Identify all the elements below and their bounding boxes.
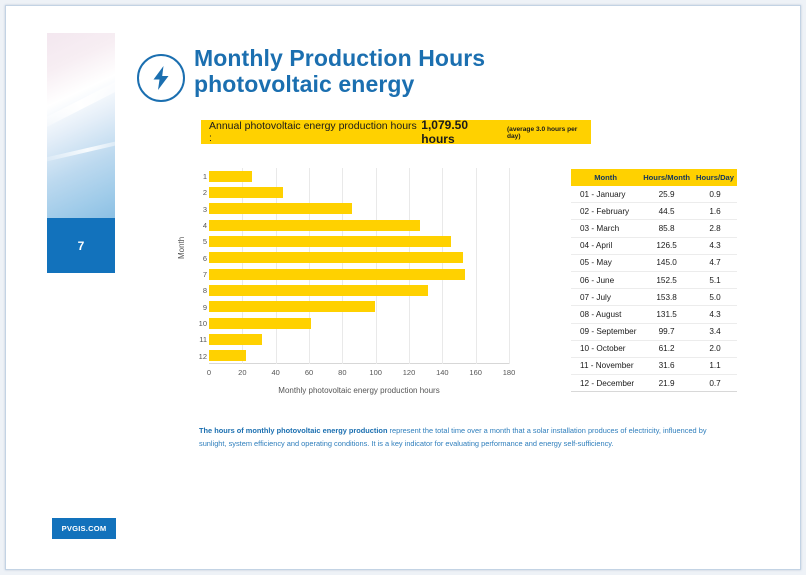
production-hours-bar-chart: Month 123456789101112 Monthly photovolta… xyxy=(181,164,526,399)
sidebar-decoration: 7 xyxy=(47,33,115,273)
chart-bar xyxy=(209,236,451,247)
chart-bar xyxy=(209,171,252,182)
chart-y-tick-label: 3 xyxy=(167,205,207,214)
chart-x-tick-label: 60 xyxy=(305,368,313,377)
pvgis-logo: PVGIS.COM xyxy=(52,518,116,539)
annual-summary-average: (average 3.0 hours per day) xyxy=(507,126,591,140)
table-cell-month: 09 - September xyxy=(571,323,640,340)
table-cell-hours-day: 0.9 xyxy=(693,186,737,203)
table-row: 07 - July153.85.0 xyxy=(571,289,737,306)
chart-x-axis-title: Monthly photovoltaic energy production h… xyxy=(209,386,509,395)
table-row: 01 - January25.90.9 xyxy=(571,186,737,203)
chart-plot-area: 123456789101112 xyxy=(209,168,509,364)
chart-y-tick-label: 9 xyxy=(167,303,207,312)
annual-summary-label: Annual photovoltaic energy production ho… xyxy=(209,120,418,144)
chart-gridline xyxy=(509,168,510,364)
table-cell-hours-month: 85.8 xyxy=(640,220,693,237)
chart-bar-row xyxy=(209,217,509,233)
table-cell-hours-month: 31.6 xyxy=(640,357,693,374)
table-cell-hours-month: 25.9 xyxy=(640,186,693,203)
table-cell-month: 05 - May xyxy=(571,254,640,271)
table-cell-month: 11 - November xyxy=(571,357,640,374)
sidebar-image xyxy=(47,33,115,218)
table-cell-hours-day: 3.4 xyxy=(693,323,737,340)
chart-y-tick-label: 10 xyxy=(167,319,207,328)
chart-bar-row xyxy=(209,184,509,200)
table-header-row: Month Hours/Month Hours/Day xyxy=(571,169,737,186)
page-title-line1: Monthly Production Hours xyxy=(194,45,485,71)
table-cell-hours-month: 44.5 xyxy=(640,203,693,220)
chart-bar-row xyxy=(209,331,509,347)
annual-summary-value: 1,079.50 hours xyxy=(421,118,503,146)
table-cell-hours-month: 21.9 xyxy=(640,375,693,392)
chart-bar xyxy=(209,187,283,198)
chart-x-tick-label: 40 xyxy=(271,368,279,377)
chart-x-tick-label: 140 xyxy=(436,368,449,377)
slide-page: 7 Monthly Production Hours photovoltaic … xyxy=(5,5,801,570)
table-cell-hours-day: 4.3 xyxy=(693,237,737,254)
chart-bar-row xyxy=(209,168,509,184)
chart-bar xyxy=(209,220,420,231)
chart-y-tick-label: 8 xyxy=(167,286,207,295)
chart-bar-row xyxy=(209,266,509,282)
chart-x-tick-label: 160 xyxy=(469,368,482,377)
monthly-data-table: Month Hours/Month Hours/Day 01 - January… xyxy=(571,169,737,392)
table-cell-hours-day: 5.0 xyxy=(693,289,737,306)
table-cell-hours-month: 152.5 xyxy=(640,271,693,288)
chart-bar xyxy=(209,252,463,263)
table-cell-month: 06 - June xyxy=(571,271,640,288)
table-cell-hours-month: 99.7 xyxy=(640,323,693,340)
table-header-month: Month xyxy=(571,169,640,186)
chart-bar xyxy=(209,318,311,329)
table-cell-month: 03 - March xyxy=(571,220,640,237)
table-cell-month: 07 - July xyxy=(571,289,640,306)
table-cell-month: 12 - December xyxy=(571,375,640,392)
chart-bar xyxy=(209,269,465,280)
table-cell-hours-day: 1.1 xyxy=(693,357,737,374)
table-row: 09 - September99.73.4 xyxy=(571,323,737,340)
table-cell-hours-day: 4.3 xyxy=(693,306,737,323)
table-row: 12 - December21.90.7 xyxy=(571,375,737,392)
chart-y-tick-label: 6 xyxy=(167,254,207,263)
table-row: 05 - May145.04.7 xyxy=(571,254,737,271)
table-row: 11 - November31.61.1 xyxy=(571,357,737,374)
table-header-hours-month: Hours/Month xyxy=(640,169,693,186)
table-cell-hours-month: 61.2 xyxy=(640,340,693,357)
table-cell-hours-month: 145.0 xyxy=(640,254,693,271)
chart-bar xyxy=(209,301,375,312)
table-cell-month: 08 - August xyxy=(571,306,640,323)
chart-x-tick-label: 0 xyxy=(207,368,211,377)
chart-x-tick-label: 80 xyxy=(338,368,346,377)
table-cell-month: 01 - January xyxy=(571,186,640,203)
page-title: Monthly Production Hours photovoltaic en… xyxy=(194,45,485,97)
table-cell-hours-day: 2.0 xyxy=(693,340,737,357)
chart-bar xyxy=(209,285,428,296)
table-cell-month: 02 - February xyxy=(571,203,640,220)
chart-bar-row xyxy=(209,233,509,249)
chart-x-tick-label: 120 xyxy=(403,368,416,377)
chart-x-tick-label: 100 xyxy=(369,368,382,377)
chart-y-tick-label: 7 xyxy=(167,270,207,279)
table-cell-hours-day: 2.8 xyxy=(693,220,737,237)
chart-bar-row xyxy=(209,250,509,266)
chart-y-tick-label: 4 xyxy=(167,221,207,230)
table-cell-hours-day: 4.7 xyxy=(693,254,737,271)
chart-bar-row xyxy=(209,348,509,364)
chart-bar xyxy=(209,203,352,214)
chart-x-tick-label: 20 xyxy=(238,368,246,377)
chart-bar-row xyxy=(209,282,509,298)
page-number-badge: 7 xyxy=(47,218,115,273)
chart-bar-row xyxy=(209,315,509,331)
table-header-hours-day: Hours/Day xyxy=(693,169,737,186)
table-cell-hours-day: 5.1 xyxy=(693,271,737,288)
table-row: 02 - February44.51.6 xyxy=(571,203,737,220)
table-cell-hours-month: 126.5 xyxy=(640,237,693,254)
table-cell-hours-month: 153.8 xyxy=(640,289,693,306)
chart-y-tick-label: 12 xyxy=(167,352,207,361)
table-row: 10 - October61.22.0 xyxy=(571,340,737,357)
table-row: 06 - June152.55.1 xyxy=(571,271,737,288)
table-row: 04 - April126.54.3 xyxy=(571,237,737,254)
table-cell-month: 10 - October xyxy=(571,340,640,357)
chart-y-tick-label: 1 xyxy=(167,172,207,181)
note-bold-lead: The hours of monthly photovoltaic energy… xyxy=(199,426,387,435)
table-cell-month: 04 - April xyxy=(571,237,640,254)
chart-bar xyxy=(209,334,262,345)
chart-y-tick-label: 2 xyxy=(167,188,207,197)
chart-y-tick-label: 11 xyxy=(167,335,207,344)
chart-y-tick-label: 5 xyxy=(167,237,207,246)
chart-bar-row xyxy=(209,299,509,315)
lightning-bolt-icon xyxy=(137,54,185,102)
table-row: 08 - August131.54.3 xyxy=(571,306,737,323)
page-title-line2: photovoltaic energy xyxy=(194,71,485,97)
chart-bar-row xyxy=(209,201,509,217)
table-cell-hours-day: 0.7 xyxy=(693,375,737,392)
chart-bar xyxy=(209,350,246,361)
explanatory-note: The hours of monthly photovoltaic energy… xyxy=(199,424,719,450)
table-row: 03 - March85.82.8 xyxy=(571,220,737,237)
annual-summary-banner: Annual photovoltaic energy production ho… xyxy=(201,120,591,144)
table-cell-hours-month: 131.5 xyxy=(640,306,693,323)
chart-x-tick-label: 180 xyxy=(503,368,516,377)
table-cell-hours-day: 1.6 xyxy=(693,203,737,220)
